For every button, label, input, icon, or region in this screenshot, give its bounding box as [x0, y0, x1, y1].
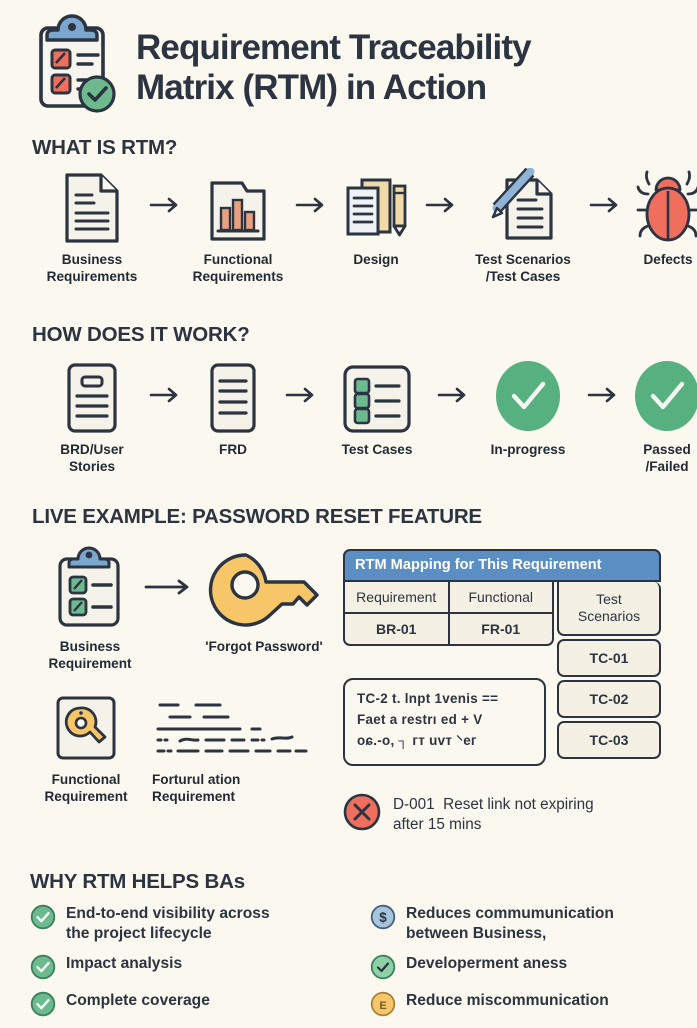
table-cell-br-01: BR-01: [343, 614, 450, 646]
amber-badge-icon: E: [370, 991, 396, 1017]
list-item: End-to-end visibility across the project…: [30, 904, 348, 943]
table-header-requirement: Requirement: [343, 582, 450, 614]
note-line-3: oɕ.-o, ┐ гт uvт ⸌ег: [357, 731, 532, 752]
green-check-badge-icon: [30, 991, 56, 1017]
caption-line-1: Forturul ation: [152, 772, 320, 789]
caption-line-2: Requirement: [152, 789, 320, 806]
green-check-circle-icon: [492, 356, 564, 434]
caption-line-2: Requirement: [48, 656, 131, 673]
arrow-right-icon: [424, 195, 458, 215]
flow-node-passed-failed: Passed /Failed: [620, 356, 697, 475]
caption-line-1: Test Cases: [342, 442, 413, 459]
live-forgot-password: 'Forgot Password': [194, 545, 334, 656]
section-heading-what-is-rtm: WHAT IS RTM?: [32, 136, 177, 160]
list-item: Developerment aness: [370, 954, 688, 980]
green-check-badge-icon: [30, 904, 56, 930]
list-item-text: Developerment aness: [406, 954, 567, 974]
caption-line-1: Functional: [193, 252, 284, 269]
clipboard-check-icon: [28, 14, 120, 121]
benefits-column-right: $ Reduces commumunication between Busine…: [370, 904, 688, 1028]
flow-arrow: [424, 166, 458, 244]
flow-node-test-cases: Test Cases: [318, 356, 436, 459]
text-line-1: Complete coverage: [66, 991, 210, 1011]
caption-line-1: Test Scenarios: [475, 252, 571, 269]
document-icon: [64, 356, 120, 434]
section-heading-how-does-it-work: HOW DOES IT WORK?: [32, 323, 250, 347]
table-row: Requirement Functional: [343, 582, 554, 614]
flow-arrow: [148, 166, 182, 244]
live-business-requirement: Business Requirement: [38, 545, 142, 672]
caption-line-1: Design: [353, 252, 398, 269]
flow-what-is-rtm: Business Requirements Functional Require…: [0, 166, 697, 285]
green-check-badge-icon: [370, 954, 396, 980]
flow-node-caption: In-progress: [491, 442, 566, 459]
note-line-1: TC-2 t. lnpt 1venis ==: [357, 689, 532, 710]
flow-node-caption: Business Requirements: [47, 252, 138, 285]
caption-line-2: /Test Cases: [475, 269, 571, 286]
flow-node-in-progress: In-progress: [470, 356, 586, 459]
arrow-right-icon: [148, 385, 182, 405]
design-pencil-icon: [340, 166, 412, 244]
list-item-text: Complete coverage: [66, 991, 210, 1011]
list-item: Impact analysis: [30, 954, 348, 980]
document-lines-icon: [207, 356, 259, 434]
list-item: Complete coverage: [30, 991, 348, 1017]
svg-text:E: E: [379, 1000, 386, 1012]
defect-text: D-001 Reset link not expiring after 15 m…: [393, 793, 594, 835]
caption-line-1: Passed: [643, 442, 691, 459]
flow-node-business-requirements: Business Requirements: [36, 166, 148, 285]
text-line-2: the project lifecycle: [66, 924, 270, 944]
test-document-pen-icon: [485, 166, 561, 244]
list-item: E Reduce miscommunication: [370, 991, 688, 1017]
defect-line-1: D-001 Reset link not expiring: [393, 795, 594, 815]
live-formulation-requirement: Forturul ation Requirement: [152, 694, 320, 805]
table-cell-tc-03: TC-03: [557, 721, 661, 759]
dollar-badge-icon: $: [370, 904, 396, 930]
table-header-functional: Functional: [450, 582, 555, 614]
section-heading-why-rtm-helps: WHY RTM HELPS BAs: [30, 870, 690, 894]
flow-node-caption: BRD/User Stories: [60, 442, 123, 475]
caption-line-2: Requirements: [47, 269, 138, 286]
caption-line-1: In-progress: [491, 442, 566, 459]
live-forgot-password-caption: 'Forgot Password': [205, 639, 323, 656]
defect-desc: Reset link not expiring: [443, 796, 594, 813]
flow-arrow: [284, 356, 318, 434]
list-item-text: Impact analysis: [66, 954, 182, 974]
flow-node-brd-user-stories: BRD/User Stories: [36, 356, 148, 475]
live-functional-caption: Functional Requirement: [44, 772, 127, 805]
caption-line-1: Defects: [643, 252, 692, 269]
arrow-right-icon: [142, 577, 194, 597]
live-arrow: [142, 545, 194, 629]
defect-line-2: after 15 mins: [393, 815, 594, 835]
section-heading-live-example: LIVE EXAMPLE: PASSWORD RESET FEATURE: [32, 505, 482, 529]
test-case-note-box: TC-2 t. lnpt 1venis == Faet a restrı ed …: [343, 678, 546, 766]
text-line-1: Developerment aness: [406, 954, 567, 974]
flow-node-caption: Design: [353, 252, 398, 269]
header-line-1: Test: [563, 591, 655, 608]
caption-line-1: Business: [47, 252, 138, 269]
table-cell-tc-02: TC-02: [557, 680, 661, 718]
caption-line-2: Requirements: [193, 269, 284, 286]
green-check-circle-icon: [631, 356, 697, 434]
text-line-2: between Business,: [406, 924, 614, 944]
flow-how-does-it-work: BRD/User Stories FRD: [0, 356, 697, 475]
flow-arrow: [588, 166, 622, 244]
live-business-caption: Business Requirement: [48, 639, 131, 672]
rtm-table-right: Test Scenarios TC-01 TC-02 TC-03: [557, 582, 661, 762]
flow-node-caption: Test Cases: [342, 442, 413, 459]
title-line-1: Requirement Traceability: [136, 28, 531, 67]
flow-node-functional-requirements: Functional Requirements: [182, 166, 294, 285]
defect-item: D-001 Reset link not expiring after 15 m…: [343, 793, 594, 835]
text-line-1: Impact analysis: [66, 954, 182, 974]
caption-line-1: Functional: [44, 772, 127, 789]
flow-node-test-scenarios: Test Scenarios /Test Cases: [458, 166, 588, 285]
table-row: BR-01 FR-01: [343, 614, 554, 646]
table-cell-tc-01: TC-01: [557, 639, 661, 677]
benefits-column-left: End-to-end visibility across the project…: [30, 904, 348, 1028]
flow-arrow: [294, 166, 328, 244]
rtm-table-caption: RTM Mapping for This Requirement: [343, 549, 661, 582]
flow-node-design: Design: [328, 166, 424, 269]
caption-line-2: Stories: [60, 459, 123, 476]
flow-node-frd: FRD: [182, 356, 284, 459]
svg-text:$: $: [379, 910, 387, 925]
checklist-icon: [341, 356, 413, 434]
header-line-2: Scenarios: [563, 608, 655, 625]
arrow-right-icon: [294, 195, 328, 215]
live-functional-requirement: Functional Requirement: [20, 694, 152, 805]
live-example-lower-left: Functional Requirement Forturul ation Re…: [20, 694, 320, 805]
scribble-lines-icon: [152, 694, 320, 762]
live-formulation-caption: Forturul ation Requirement: [152, 772, 320, 805]
key-icon: [202, 545, 326, 629]
table-header-test-scenarios: Test Scenarios: [557, 582, 661, 636]
x-circle-icon: [343, 793, 381, 831]
bug-icon: [635, 166, 697, 244]
arrow-right-icon: [586, 385, 620, 405]
caption-line-2: Requirement: [44, 789, 127, 806]
page-title: Requirement Traceability Matrix (RTM) in…: [136, 28, 531, 106]
table-cell-fr-01: FR-01: [450, 614, 555, 646]
caption-line-1: Business: [48, 639, 131, 656]
green-check-badge-icon: [30, 954, 56, 980]
caption-line-2: /Failed: [643, 459, 691, 476]
flow-arrow: [586, 356, 620, 434]
arrow-right-icon: [436, 385, 470, 405]
arrow-right-icon: [588, 195, 622, 215]
arrow-right-icon: [284, 385, 318, 405]
text-line-1: Reduces commumunication: [406, 904, 614, 924]
caption-line-1: BRD/User: [60, 442, 123, 459]
arrow-right-icon: [148, 195, 182, 215]
flow-node-defects: Defects: [622, 166, 697, 269]
flow-node-caption: Test Scenarios /Test Cases: [475, 252, 571, 285]
flow-node-caption: FRD: [219, 442, 247, 459]
defect-id: D-001: [393, 796, 435, 813]
title-line-2: Matrix (RTM) in Action: [136, 68, 531, 107]
section-why-rtm-helps: WHY RTM HELPS BAs End-to-end visibility …: [30, 870, 690, 1028]
page-header: Requirement Traceability Matrix (RTM) in…: [0, 0, 697, 121]
list-item-text: Reduces commumunication between Business…: [406, 904, 614, 943]
flow-node-caption: Passed /Failed: [643, 442, 691, 475]
text-line-1: Reduce miscommunication: [406, 991, 609, 1011]
text-line-1: End-to-end visibility across: [66, 904, 270, 924]
live-example-left: Business Requirement 'Forgot Password': [38, 545, 334, 672]
flow-node-caption: Functional Requirements: [193, 252, 284, 285]
document-icon: [63, 166, 121, 244]
flow-arrow: [148, 356, 182, 434]
key-box-icon: [54, 694, 118, 762]
list-item: $ Reduces commumunication between Busine…: [370, 904, 688, 943]
clipboard-check-icon: [52, 545, 128, 629]
note-line-2: Faet a restrı ed + V: [357, 710, 532, 731]
caption-line-1: FRD: [219, 442, 247, 459]
list-item-text: Reduce miscommunication: [406, 991, 609, 1011]
list-item-text: End-to-end visibility across the project…: [66, 904, 270, 943]
bar-chart-document-icon: [208, 166, 268, 244]
flow-node-caption: Defects: [643, 252, 692, 269]
flow-arrow: [436, 356, 470, 434]
